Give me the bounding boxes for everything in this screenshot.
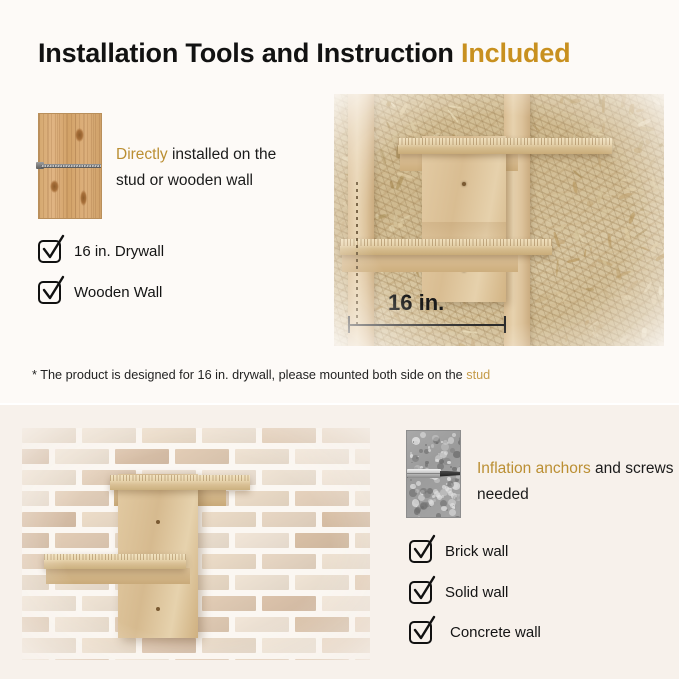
wood-knot bbox=[50, 180, 59, 193]
checkbox-icon[interactable] bbox=[409, 621, 432, 644]
dimension-extension-line bbox=[356, 182, 358, 324]
bracket-screw bbox=[156, 607, 160, 611]
checklist-item-drywall[interactable]: 16 in. Drywall bbox=[38, 240, 164, 263]
shelf-lower bbox=[340, 239, 552, 255]
section-stud-wall: Installation Tools and Instruction Inclu… bbox=[0, 0, 679, 405]
infographic-page: Installation Tools and Instruction Inclu… bbox=[0, 0, 679, 679]
wood-board-icon bbox=[38, 113, 102, 219]
masonry-wall-description: Inflation anchors and screws needed bbox=[477, 456, 677, 508]
footnote: * The product is designed for 16 in. dry… bbox=[32, 368, 490, 382]
checklist-label: Solid wall bbox=[445, 584, 508, 601]
screw-icon bbox=[33, 162, 105, 169]
checkmark-icon bbox=[41, 235, 67, 265]
stud-wall-description-highlight: Directly bbox=[116, 146, 168, 163]
shelf-upper bbox=[398, 138, 612, 154]
wall-stud-right bbox=[504, 94, 530, 346]
shelf-lower bbox=[44, 554, 186, 569]
screw-shaft bbox=[41, 164, 101, 168]
inflation-anchor-icon bbox=[406, 469, 461, 478]
checkbox-icon[interactable] bbox=[38, 240, 61, 263]
dimension-line: 16 in. bbox=[348, 316, 506, 332]
shelf-upper bbox=[110, 475, 250, 490]
brick-wall-photo bbox=[22, 428, 370, 660]
checklist-item-solid-wall[interactable]: Solid wall bbox=[409, 581, 508, 604]
checkmark-icon bbox=[412, 535, 438, 565]
concrete-anchor-icon bbox=[406, 430, 461, 518]
section-masonry-wall: Inflation anchors and screws needed Bric… bbox=[0, 405, 679, 679]
dimension-label: 16 in. bbox=[388, 290, 444, 316]
page-title: Installation Tools and Instruction Inclu… bbox=[38, 38, 570, 69]
checklist-label: Wooden Wall bbox=[74, 284, 162, 301]
wood-knot bbox=[75, 128, 84, 142]
page-title-accent: Included bbox=[461, 38, 570, 68]
checkmark-icon bbox=[412, 576, 438, 606]
wall-stud-left bbox=[348, 94, 374, 346]
checkmark-icon bbox=[412, 616, 438, 646]
anchor-sleeve bbox=[407, 469, 441, 478]
dimension-rule bbox=[348, 324, 506, 326]
masonry-wall-description-highlight: Inflation anchors bbox=[477, 460, 591, 477]
checklist-item-wooden-wall[interactable]: Wooden Wall bbox=[38, 281, 162, 304]
page-title-main: Installation Tools and Instruction bbox=[38, 38, 454, 68]
checklist-label: Brick wall bbox=[445, 543, 508, 560]
bracket-screw bbox=[462, 182, 466, 186]
checklist-label: Concrete wall bbox=[450, 624, 541, 641]
shelf-apron-bottom bbox=[46, 568, 190, 584]
stud-wall-photo-image: 16 in. bbox=[334, 94, 664, 346]
shelf-apron-bottom bbox=[342, 255, 518, 272]
bracket-screw bbox=[156, 520, 160, 524]
checklist-item-concrete-wall[interactable]: Concrete wall bbox=[409, 621, 541, 644]
footnote-highlight: stud bbox=[466, 368, 490, 382]
mounting-bracket bbox=[422, 136, 506, 302]
checkbox-icon[interactable] bbox=[409, 581, 432, 604]
stud-wall-description: Directly installed on the stud or wooden… bbox=[116, 142, 296, 194]
wood-knot bbox=[80, 190, 87, 206]
checkbox-icon[interactable] bbox=[409, 540, 432, 563]
anchor-tip bbox=[440, 471, 461, 477]
checklist-item-brick-wall[interactable]: Brick wall bbox=[409, 540, 508, 563]
checkbox-icon[interactable] bbox=[38, 281, 61, 304]
footnote-text: * The product is designed for 16 in. dry… bbox=[32, 368, 466, 382]
checkmark-icon bbox=[41, 276, 67, 306]
checklist-label: 16 in. Drywall bbox=[74, 243, 164, 260]
brick-wall-photo-image bbox=[22, 428, 370, 660]
stud-wall-photo: 16 in. bbox=[334, 94, 664, 346]
